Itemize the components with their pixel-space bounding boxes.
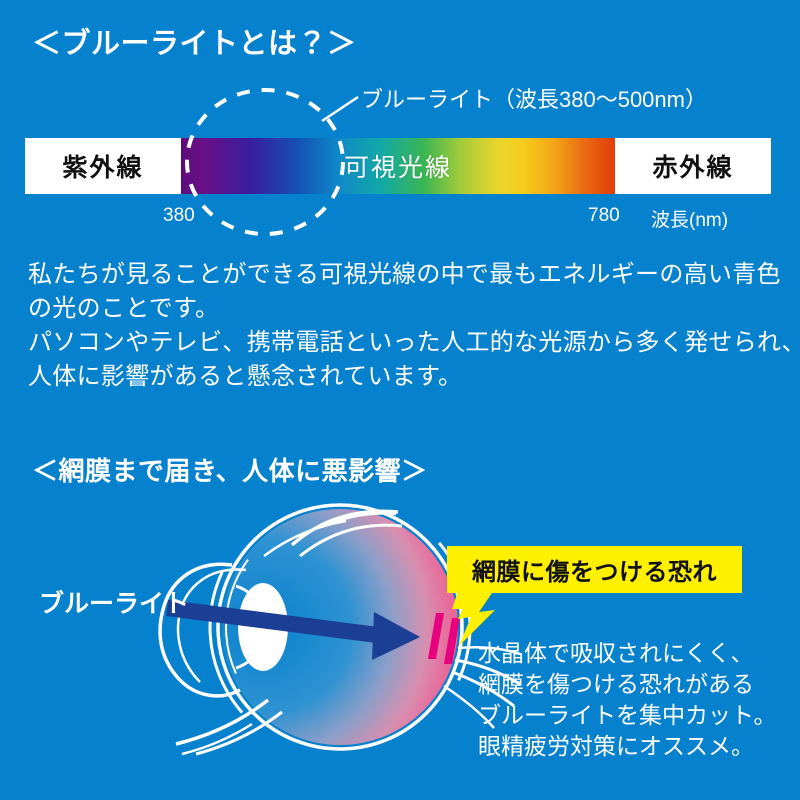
sclera-outline	[218, 505, 462, 749]
muscle-strand-top-3	[322, 514, 396, 527]
section-1-body-text: 私たちが見ることができる可視光線の中で最もエネルギーの高い青色 の光のことです。…	[28, 258, 784, 394]
retina-damage-badge-label: 網膜に傷をつける恐れ	[472, 552, 717, 587]
body-line-4: 人体に影響があると懸念されています。	[28, 360, 784, 394]
body-line-2: の光のことです。	[28, 292, 784, 326]
spectrum-band-visible: 可視光線	[181, 138, 615, 194]
lens-shape	[238, 583, 288, 671]
spectrum-tick-780: 780	[588, 205, 620, 227]
badge-tail	[452, 592, 480, 609]
spectrum-band-ultraviolet: 紫外線	[25, 138, 181, 194]
bluelight-leader-line	[322, 97, 358, 121]
muscle-strand-bottom-3	[182, 724, 252, 754]
bluelight-arrow	[166, 600, 420, 660]
section-2-heading: ＜網膜まで届き、人体に悪影響＞	[32, 451, 428, 488]
muscle-strand-bottom-2	[196, 712, 282, 754]
cut-line-2: 網膜を傷つける恐れがある	[478, 669, 777, 700]
retina-outline	[226, 513, 454, 741]
section-1-heading: ＜ブルーライトとは？＞	[32, 20, 357, 62]
retina-damage-marks	[428, 613, 460, 664]
spectrum-band-visible-label: 可視光線	[344, 148, 452, 184]
choroid-outline	[210, 497, 470, 757]
muscle-strand-bottom-1	[176, 700, 268, 744]
retina-damage-badge: 網膜に傷をつける恐れ	[447, 546, 742, 593]
bluelight-wavelength-callout: ブルーライト（波長380〜500nm）	[361, 82, 707, 114]
muscle-strand-top-4	[264, 521, 346, 556]
cut-line-1: 水晶体で吸収されにくく、	[478, 638, 777, 669]
bluelight-arrow-label: ブルーライト	[39, 584, 189, 620]
muscle-strand-top-2	[300, 525, 402, 556]
body-line-3: パソコンやテレビ、携帯電話といった人工的な光源から多く発せられ、	[28, 326, 784, 360]
spectrum-axis-unit-label: 波長(nm)	[651, 205, 728, 232]
bluelight-cut-description: 水晶体で吸収されにくく、 網膜を傷つける恐れがある ブルーライトを集中カット。 …	[478, 638, 777, 762]
spectrum-tick-380: 380	[163, 205, 195, 227]
infographic-page: ＜ブルーライトとは？＞ 紫外線 可視光線 赤外線 ブルーライト（波長380〜50…	[0, 0, 800, 800]
cut-line-4: 眼精疲労対策にオススメ。	[478, 731, 777, 762]
body-line-1: 私たちが見ることができる可視光線の中で最もエネルギーの高い青色	[28, 258, 784, 292]
eyeball-interior	[222, 509, 458, 745]
iris-upper	[236, 586, 260, 606]
cut-line-3: ブルーライトを集中カット。	[478, 700, 777, 731]
muscle-strand-top-1	[292, 511, 398, 545]
spectrum-bar: 紫外線 可視光線 赤外線	[25, 138, 771, 194]
spectrum-band-infrared: 赤外線	[615, 138, 771, 194]
iris-lower	[236, 648, 260, 668]
